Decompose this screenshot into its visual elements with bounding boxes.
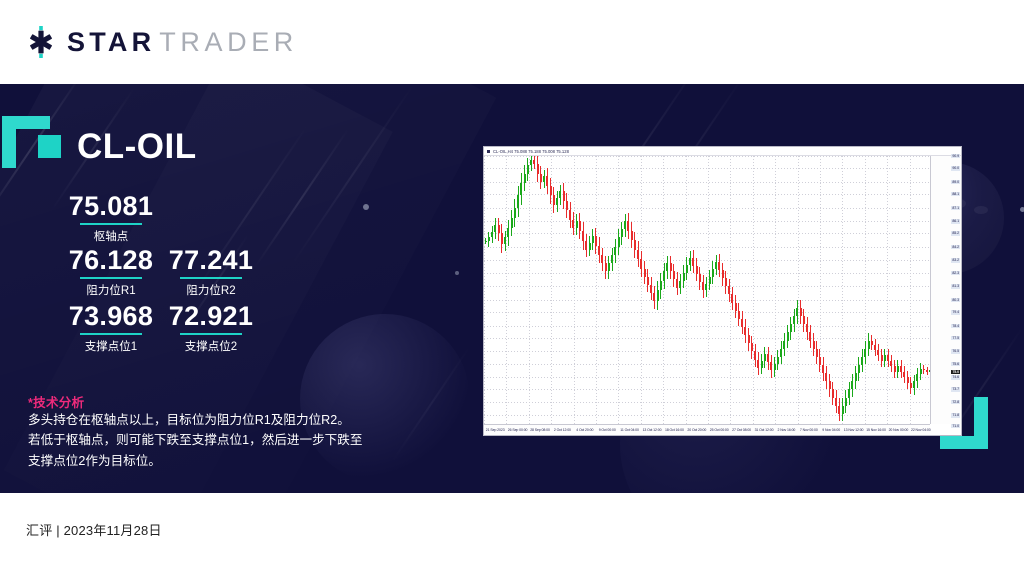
price-tick: 73.7	[951, 387, 960, 391]
candle	[770, 156, 772, 424]
level-s2-value: 72.921	[148, 302, 274, 330]
candle	[887, 156, 889, 424]
level-s2: 72.921 支撑点位2	[148, 302, 274, 354]
level-underline	[180, 333, 242, 335]
time-tick: 13 Oct 12:00	[643, 428, 662, 432]
candle	[894, 156, 896, 424]
candle	[618, 156, 620, 424]
candle	[647, 156, 649, 424]
candle	[550, 156, 552, 424]
candle	[907, 156, 909, 424]
chart-plot-area	[484, 156, 930, 424]
instrument-symbol: CL-OIL	[77, 129, 197, 164]
time-tick: 31 Oct 12:00	[755, 428, 774, 432]
candle	[741, 156, 743, 424]
candle	[764, 156, 766, 424]
candle	[676, 156, 678, 424]
candle	[796, 156, 798, 424]
candle	[767, 156, 769, 424]
time-tick: 2 Oct 12:00	[554, 428, 571, 432]
candle	[754, 156, 756, 424]
candle	[699, 156, 701, 424]
candle	[774, 156, 776, 424]
candle	[569, 156, 571, 424]
price-tick: 85.2	[951, 231, 960, 235]
candle	[910, 156, 912, 424]
candle	[485, 156, 487, 424]
candle	[757, 156, 759, 424]
time-tick: 4 Oct 20:00	[576, 428, 593, 432]
candle	[822, 156, 824, 424]
time-tick: 9 Oct 00:00	[599, 428, 616, 432]
candle	[524, 156, 526, 424]
candle	[728, 156, 730, 424]
price-tick: 79.4	[951, 310, 960, 314]
candle	[858, 156, 860, 424]
candle	[780, 156, 782, 424]
candle	[877, 156, 879, 424]
candle	[679, 156, 681, 424]
candle	[800, 156, 802, 424]
candle	[718, 156, 720, 424]
time-tick: 28 Sep 08:00	[530, 428, 550, 432]
price-tick: 83.2	[951, 258, 960, 262]
candle	[663, 156, 665, 424]
candle	[725, 156, 727, 424]
candle	[874, 156, 876, 424]
price-tick: 86.1	[951, 219, 960, 223]
level-r2-label: 阻力位R2	[148, 282, 274, 298]
candle	[920, 156, 922, 424]
candle	[666, 156, 668, 424]
chart-header-text: CL-OIL,H4 75.088 75.188 75.008 75.128	[493, 149, 569, 154]
candle	[916, 156, 918, 424]
candle	[501, 156, 503, 424]
candle	[572, 156, 574, 424]
time-tick: 13 Nov 12:00	[844, 428, 864, 432]
candle	[783, 156, 785, 424]
candle	[637, 156, 639, 424]
candle	[660, 156, 662, 424]
candle	[640, 156, 642, 424]
accent-dot	[1020, 207, 1024, 212]
analysis-line-1: 多头持仓在枢轴点以上，目标位为阻力位R1及阻力位R2。	[28, 410, 393, 430]
candle	[871, 156, 873, 424]
level-pivot: 75.081 枢轴点	[48, 192, 174, 244]
price-tick: 81.3	[951, 284, 960, 288]
footer-caption: 汇评 | 2023年11月28日	[26, 520, 162, 539]
candle	[520, 156, 522, 424]
candle	[611, 156, 613, 424]
brand-name-light: TRADER	[159, 27, 298, 58]
asterisk-star-icon	[24, 25, 58, 59]
brand-logo[interactable]: STAR TRADER	[24, 24, 298, 60]
candle	[803, 156, 805, 424]
candle	[744, 156, 746, 424]
candle	[579, 156, 581, 424]
candle	[825, 156, 827, 424]
level-r2: 77.241 阻力位R2	[148, 246, 274, 298]
time-tick: 15 Nov 16:00	[866, 428, 886, 432]
price-tick: 87.1	[951, 206, 960, 210]
analysis-body: 多头持仓在枢轴点以上，目标位为阻力位R1及阻力位R2。 若低于枢轴点，则可能下跌…	[28, 410, 393, 471]
candle	[722, 156, 724, 424]
candle	[845, 156, 847, 424]
candle	[696, 156, 698, 424]
candle	[553, 156, 555, 424]
candle	[589, 156, 591, 424]
chart-time-axis: 21 Sep 202326 Sep 00:0028 Sep 08:002 Oct…	[484, 424, 930, 435]
candle	[517, 156, 519, 424]
candle	[627, 156, 629, 424]
time-tick: 7 Nov 00:00	[800, 428, 818, 432]
analysis-title: *技术分析	[28, 392, 84, 411]
candle	[614, 156, 616, 424]
candle	[504, 156, 506, 424]
candle	[868, 156, 870, 424]
candle	[692, 156, 694, 424]
level-underline	[80, 333, 142, 335]
price-tick: 84.2	[951, 245, 960, 249]
brand-name-bold: STAR	[67, 27, 155, 58]
candle	[537, 156, 539, 424]
candle	[793, 156, 795, 424]
price-tick: 76.5	[951, 349, 960, 353]
candle	[923, 156, 925, 424]
candle	[576, 156, 578, 424]
candle	[890, 156, 892, 424]
candle	[832, 156, 834, 424]
candle	[644, 156, 646, 424]
candle	[881, 156, 883, 424]
chart-header-marker-icon	[487, 150, 490, 153]
analysis-line-2: 若低于枢轴点，则可能下跌至支撑点位1，然后进一步下跌至	[28, 430, 393, 450]
candle	[913, 156, 915, 424]
candle	[712, 156, 714, 424]
time-tick: 20 Nov 00:00	[889, 428, 909, 432]
price-tick: 82.3	[951, 271, 960, 275]
analysis-line-3: 支撑点位2作为目标位。	[28, 451, 393, 471]
level-underline	[80, 223, 142, 225]
candle	[705, 156, 707, 424]
level-pivot-label: 枢轴点	[48, 228, 174, 244]
candle	[855, 156, 857, 424]
time-tick: 27 Oct 08:00	[732, 428, 751, 432]
price-tick: 72.8	[951, 400, 960, 404]
candle	[816, 156, 818, 424]
price-tick: 78.4	[951, 324, 960, 328]
candle	[835, 156, 837, 424]
price-tick: 90.0	[951, 166, 960, 170]
candle	[546, 156, 548, 424]
time-tick: 2 Nov 16:00	[778, 428, 796, 432]
candle	[790, 156, 792, 424]
candle	[813, 156, 815, 424]
candle	[650, 156, 652, 424]
candle	[751, 156, 753, 424]
candle	[673, 156, 675, 424]
candle	[809, 156, 811, 424]
time-tick: 18 Oct 16:00	[665, 428, 684, 432]
level-s2-label: 支撑点位2	[148, 338, 274, 354]
candle	[488, 156, 490, 424]
candle	[601, 156, 603, 424]
time-tick: 22 Nov 04:00	[911, 428, 931, 432]
accent-dot	[455, 271, 459, 275]
candle	[709, 156, 711, 424]
candle	[657, 156, 659, 424]
candle	[777, 156, 779, 424]
candle	[527, 156, 529, 424]
candle	[715, 156, 717, 424]
price-tick: 75.6	[951, 362, 960, 366]
candlestick-series	[484, 156, 930, 424]
candle	[533, 156, 535, 424]
candle	[900, 156, 902, 424]
candle	[563, 156, 565, 424]
candle	[605, 156, 607, 424]
page-footer: 汇评 | 2023年11月28日	[0, 493, 1024, 576]
candle	[838, 156, 840, 424]
candle	[842, 156, 844, 424]
level-underline	[80, 277, 142, 279]
candle	[634, 156, 636, 424]
candle	[702, 156, 704, 424]
corner-bracket-top-left	[0, 116, 32, 168]
candle	[556, 156, 558, 424]
candle	[787, 156, 789, 424]
candle	[595, 156, 597, 424]
time-tick: 11 Oct 04:00	[620, 428, 639, 432]
price-chart[interactable]: CL-OIL,H4 75.088 75.188 75.008 75.128 90…	[483, 146, 962, 436]
instrument-marker-icon	[38, 135, 61, 158]
candle	[861, 156, 863, 424]
level-underline	[180, 277, 242, 279]
candle	[884, 156, 886, 424]
candle	[582, 156, 584, 424]
candle	[851, 156, 853, 424]
time-tick: 9 Nov 04:00	[822, 428, 840, 432]
candle	[592, 156, 594, 424]
candle	[848, 156, 850, 424]
candle	[514, 156, 516, 424]
candle	[738, 156, 740, 424]
instrument-title-row: CL-OIL	[38, 129, 197, 164]
candle	[566, 156, 568, 424]
page-header: STAR TRADER	[0, 0, 1024, 84]
candle	[507, 156, 509, 424]
candle	[624, 156, 626, 424]
candle	[621, 156, 623, 424]
candle	[864, 156, 866, 424]
candle	[511, 156, 513, 424]
time-tick: 20 Oct 20:00	[687, 428, 706, 432]
price-tick: 88.1	[951, 192, 960, 196]
candle	[735, 156, 737, 424]
candle	[903, 156, 905, 424]
candle	[683, 156, 685, 424]
price-tick: 77.5	[951, 336, 960, 340]
chart-price-axis: 90.990.089.088.187.186.185.284.283.282.3…	[930, 156, 961, 424]
candle	[530, 156, 532, 424]
candle	[498, 156, 500, 424]
brand-wordmark: STAR TRADER	[67, 27, 298, 58]
candle	[670, 156, 672, 424]
price-tick: 71.8	[951, 413, 960, 417]
time-tick: 21 Sep 2023	[486, 428, 505, 432]
price-tick: 71.0	[951, 424, 960, 428]
candle	[897, 156, 899, 424]
candle	[631, 156, 633, 424]
candle	[761, 156, 763, 424]
candle	[806, 156, 808, 424]
candle	[926, 156, 928, 424]
candle	[491, 156, 493, 424]
candle	[585, 156, 587, 424]
price-tick: 74.6	[951, 375, 960, 379]
candle	[748, 156, 750, 424]
current-price-tick: 75.0	[951, 370, 960, 374]
candle	[598, 156, 600, 424]
price-tick: 80.3	[951, 298, 960, 302]
candle	[689, 156, 691, 424]
slide-root: STAR TRADER	[0, 0, 1024, 576]
candle	[731, 156, 733, 424]
accent-dot	[363, 204, 369, 210]
candle	[543, 156, 545, 424]
candle	[540, 156, 542, 424]
candle	[686, 156, 688, 424]
candle	[653, 156, 655, 424]
candle	[829, 156, 831, 424]
candle	[494, 156, 496, 424]
price-tick: 90.9	[951, 154, 960, 158]
candle	[559, 156, 561, 424]
level-r2-value: 77.241	[148, 246, 274, 274]
level-pivot-value: 75.081	[48, 192, 174, 220]
time-tick: 26 Sep 00:00	[508, 428, 528, 432]
candle	[819, 156, 821, 424]
chart-header: CL-OIL,H4 75.088 75.188 75.008 75.128	[484, 147, 961, 156]
candle	[608, 156, 610, 424]
price-tick: 89.0	[951, 180, 960, 184]
time-tick: 25 Oct 00:00	[710, 428, 729, 432]
